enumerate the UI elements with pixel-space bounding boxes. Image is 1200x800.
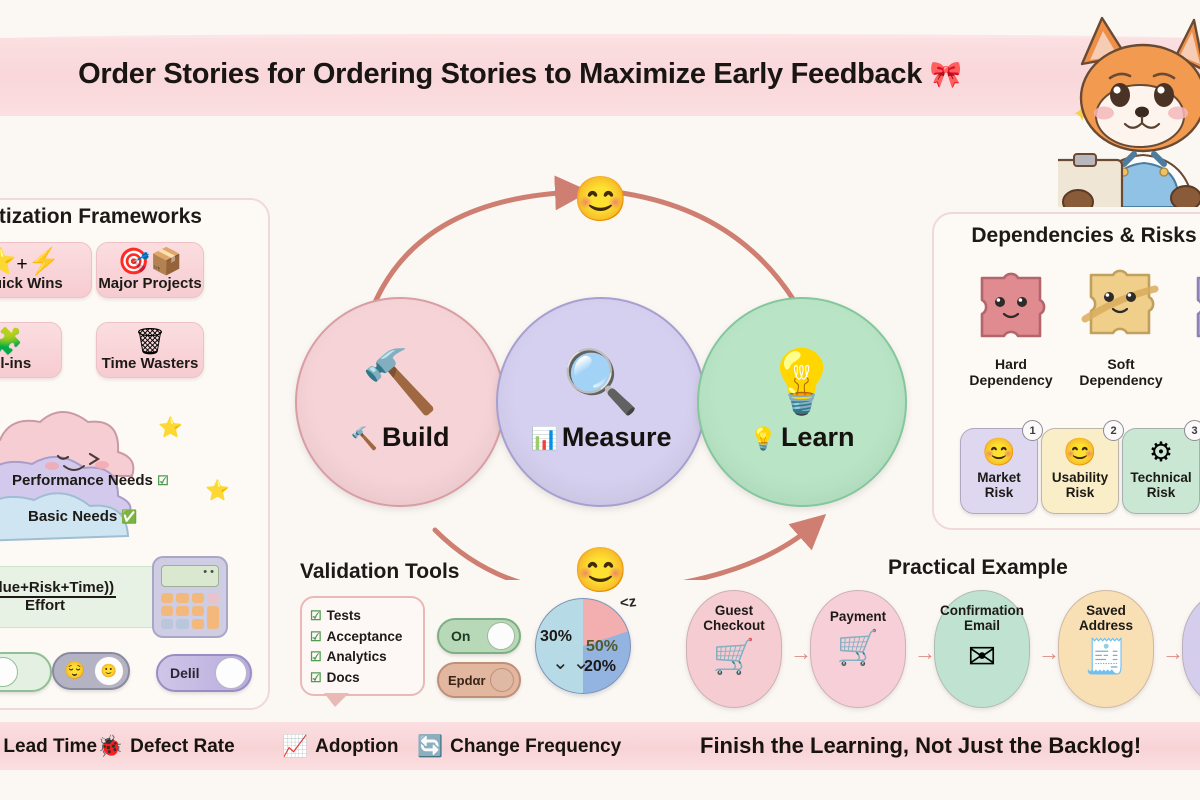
pie-face-icon: ⌄⌄ [552,650,594,675]
soft-dependency-label: Soft Dependency [1066,356,1176,388]
check-icon: ☑ [310,668,322,688]
trash-icon: 🗑 [133,328,166,354]
target-box-icon: 🎯📦 [118,248,183,274]
toggle-mood[interactable]: 😌 🙂 [52,652,130,690]
chart-small-icon: 📊 [531,426,558,451]
step-arrow: → [1162,640,1184,666]
metric-defect-rate: 🐞 Defect Rate [97,735,235,759]
cart-icon: 🛒 [713,637,755,677]
hard-dependency-label: Hard Dependency [956,356,1066,388]
checklist-item[interactable]: ☑Docs [310,668,423,689]
metric-lead-time: ⏱ Lead Time [0,735,97,759]
checklist-item[interactable]: ☑Analytics [310,647,423,668]
hammer-icon: 🔨 [361,352,438,414]
kano-layer-basic: Basic Needs ✅ [28,508,138,525]
step-label: SavedAddress [1079,603,1133,633]
toggle-knob[interactable] [490,668,514,692]
risk-label: TechnicalRisk [1130,470,1191,500]
chip-label: Quick Wins [0,275,63,292]
metric-label: Lead Time [3,736,97,758]
toggle-knob[interactable] [487,622,515,650]
bulb-small-icon: 💡 [750,426,777,451]
gear-icon: ⚙ [1149,439,1173,466]
step-label: GuestCheckout [703,603,765,633]
calculator-screen: • • [161,565,219,587]
emoji-bottom-smiley: 😊 [573,544,628,596]
validation-checklist-bubble: ☑Tests ☑Acceptance ☑Analytics ☑Docs [300,596,425,696]
chip-label: Fill-ins [0,355,31,372]
chip-label: Major Projects [98,275,201,292]
star-icon: ⭐ [205,478,230,503]
metric-change-frequency: 🔄 Change Frequency [417,735,621,759]
risk-card-technical[interactable]: 3 ⚙ TechnicalRisk [1122,428,1200,514]
cycle-node-label: 📊Measure [531,422,672,453]
chip-time-wasters[interactable]: 🗑 Time Wasters [96,322,204,378]
fox-mascot-icon [1058,12,1200,207]
toggle-label: On [451,628,470,644]
trend-up-icon: 📈 [282,735,308,759]
check-icon: ☑ [310,606,322,626]
risk-card-usability[interactable]: 2 😊 UsabilityRisk [1041,428,1119,514]
step-label: ConfirmationEmail [940,603,1024,633]
smiley-icon: 🙂 [101,663,117,679]
metric-adoption: 📈 Adoption [282,735,399,759]
example-step-payment[interactable]: Payment 🛒 [810,590,906,708]
sleep-annotation: <z [619,593,637,612]
prioritization-formula: (Value+Risk+Time)) Effort [0,566,170,628]
star-icon: ⭐ [158,415,183,440]
chip-label: Time Wasters [102,355,199,372]
infographic-canvas: Order Stories for Ordering Stories to Ma… [0,0,1200,800]
star-bolt-icon: ⭐+⚡ [0,248,60,274]
step-arrow: → [914,640,936,666]
puzzle-hard-dependency-icon [968,268,1054,348]
prioritization-frameworks-title: Prioritization Frameworks [0,205,268,229]
step-label: Payment [830,609,886,624]
calculator-icon: • • [152,556,228,638]
refresh-icon: 🔄 [417,735,443,759]
puzzle-soft-dependency-icon [1077,265,1163,345]
step-arrow: → [1038,640,1060,666]
risk-badge: 3 [1184,420,1200,441]
toggle-delil[interactable]: Delil [156,654,252,692]
hammer-small-icon: 🔨 [351,426,378,451]
sleepy-face-icon: 😌 [64,661,85,681]
toggle-label: Delil [170,665,200,681]
example-step-saved-address[interactable]: SavedAddress 🧾 [1058,590,1154,708]
risk-badge: 1 [1022,420,1043,441]
puzzle-icon: 🧩 [0,328,23,354]
dependencies-risks-title: Dependencies & Risks [934,224,1200,248]
formula-denominator: Effort [0,598,116,614]
check-icon: ☑ [310,647,322,667]
receipt-icon: 🧾 [1085,637,1127,677]
risk-label: UsabilityRisk [1052,470,1108,500]
chip-major-projects[interactable]: 🎯📦 Major Projects [96,242,204,298]
metric-label: Adoption [315,736,398,758]
page-title-text: Order Stories for Ordering Stories to Ma… [78,58,922,90]
cycle-node-build[interactable]: 🔨 🔨Build [295,297,505,507]
checklist-item[interactable]: ☑Tests [310,606,423,627]
page-title: Order Stories for Ordering Stories to Ma… [0,58,1040,91]
risk-card-market[interactable]: 1 😊 MarketRisk [960,428,1038,514]
smiley-icon: 😊 [1063,439,1097,466]
step-arrow: → [790,640,812,666]
check-icon: ☑ [157,473,169,488]
envelope-icon: ✉ [968,637,997,677]
example-step-next[interactable] [1182,590,1200,708]
risk-label: MarketRisk [977,470,1021,500]
cycle-node-label: 🔨Build [351,422,450,453]
puzzle-third-dependency-icon [1184,268,1200,348]
toggle-knob[interactable] [0,657,18,687]
toggle-off[interactable]: Epdαr [437,662,521,698]
lightbulb-icon: 💡 [763,352,840,414]
toggle-green[interactable] [0,652,52,692]
ribbon-icon: 🎀 [930,59,962,89]
metric-label: Defect Rate [130,736,235,758]
magnifier-icon: 🔍 [562,352,639,414]
emoji-top-smiley: 😊 [573,173,628,225]
kano-layer-performance: Performance Needs ☑ [12,472,169,489]
calculator-keys [161,593,219,629]
footer-tagline: Finish the Learning, Not Just the Backlo… [700,733,1141,759]
checklist-item[interactable]: ☑Acceptance [310,627,423,648]
risk-badge: 2 [1103,420,1124,441]
validation-tools-title: Validation Tools [300,560,459,584]
example-step-guest-checkout[interactable]: GuestCheckout 🛒 [686,590,782,708]
toggle-label: Epdαr [448,673,486,688]
chip-quick-wins[interactable]: ⭐+⚡ Quick Wins [0,242,92,298]
cart-icon: 🛒 [837,628,879,668]
formula-numerator: (Value+Risk+Time)) [0,580,116,598]
chip-fill-ins[interactable]: 🧩 Fill-ins [0,322,62,378]
toggle-knob[interactable]: 🙂 [94,656,124,686]
pie-label-30: 30% [540,628,572,646]
cycle-node-label: 💡Learn [750,422,855,453]
metric-label: Change Frequency [450,736,621,758]
practical-example-title: Practical Example [888,556,1068,580]
example-step-confirmation-email[interactable]: ConfirmationEmail ✉ [934,590,1030,708]
cycle-node-learn[interactable]: 💡 💡Learn [697,297,907,507]
check-icon: ✅ [121,509,137,524]
cycle-node-measure[interactable]: 🔍 📊Measure [496,297,706,507]
smiley-icon: 😊 [982,439,1016,466]
check-icon: ☑ [310,627,322,647]
toggle-knob[interactable] [215,657,247,689]
toggle-on[interactable]: On [437,618,521,654]
bug-icon: 🐞 [97,735,123,759]
